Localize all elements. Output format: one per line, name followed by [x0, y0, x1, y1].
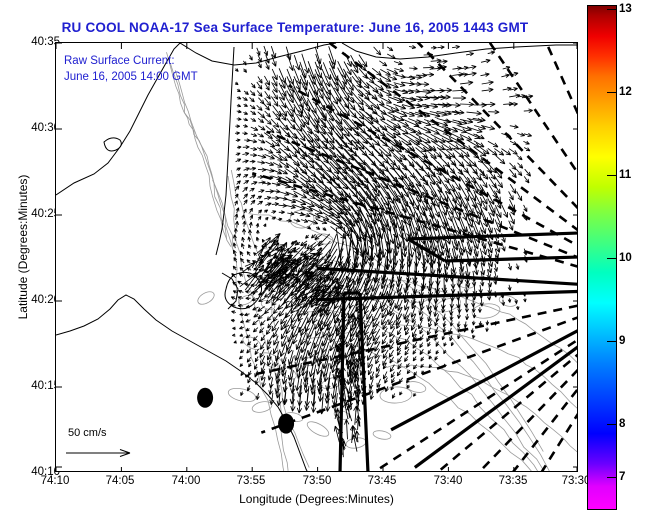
scale-legend: 50 cm/s: [64, 427, 174, 469]
y-axis-label: Latitude (Degrees:Minutes): [16, 162, 30, 332]
page-title: RU COOL NOAA-17 Sea Surface Temperature:…: [0, 20, 590, 35]
x-tick-label: 73:45: [368, 475, 397, 487]
colorbar-tick-mark: [607, 175, 617, 176]
colorbar-tick-mark: [607, 258, 617, 259]
x-tick-label: 73:35: [499, 475, 528, 487]
x-tick-label: 73:55: [237, 475, 266, 487]
bathymetry-contours: [167, 52, 579, 472]
x-tick-label: 74:10: [41, 475, 70, 487]
map-plot-area[interactable]: Raw Surface Current: June 16, 2005 14:00…: [55, 42, 578, 472]
colorbar-tick-label: 7: [619, 471, 625, 483]
colorbar-tick-label: 9: [619, 335, 625, 347]
scale-legend-label: 50 cm/s: [68, 427, 107, 439]
current-annotation: Raw Surface Current: June 16, 2005 14:00…: [64, 53, 198, 85]
colorbar-tick-mark: [607, 424, 617, 425]
colorbar-tick-label: 12: [619, 86, 632, 98]
colorbar-tick-label: 10: [619, 252, 632, 264]
current-vector-field: [231, 45, 533, 457]
colorbar-tick-mark: [607, 341, 617, 342]
sst-current-map-figure: RU COOL NOAA-17 Sea Surface Temperature:…: [0, 0, 651, 515]
colorbar-tick-mark: [607, 92, 617, 93]
x-axis-label: Longitude (Degrees:Minutes): [55, 492, 578, 506]
map-graphics: [56, 43, 578, 472]
colorbar-tick-mark: [607, 9, 617, 10]
annotation-line-2: June 16, 2005 14:00 GMT: [64, 69, 198, 85]
x-tick-label: 74:05: [106, 475, 135, 487]
colorbar-tick-mark: [607, 477, 617, 478]
colorbar-tick-label: 8: [619, 418, 625, 430]
colorbar-tick-label: 13: [619, 3, 632, 15]
x-tick-label: 73:40: [434, 475, 463, 487]
scale-arrow-icon: [64, 445, 144, 461]
colorbar-tick-label: 11: [619, 169, 631, 181]
x-tick-label: 74:00: [172, 475, 201, 487]
annotation-line-1: Raw Surface Current:: [64, 53, 198, 69]
x-tick-label: 73:50: [303, 475, 332, 487]
